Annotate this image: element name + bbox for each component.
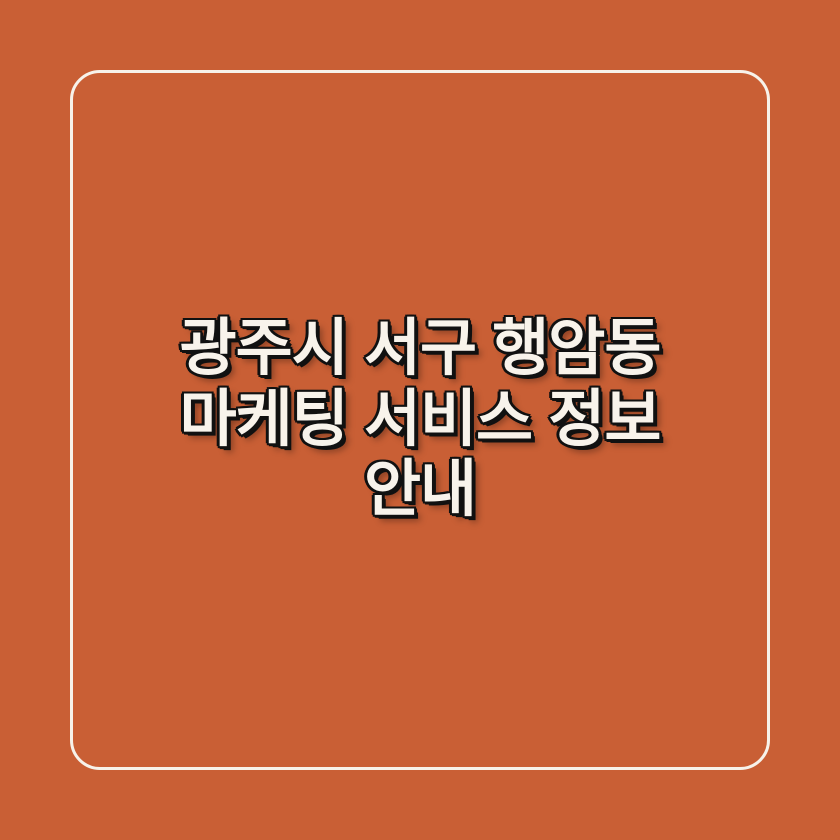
headline-line-3: 안내 — [180, 455, 661, 526]
page-title: 광주시 서구 행암동 마케팅 서비스 정보 안내 — [180, 314, 661, 526]
headline-line-1: 광주시 서구 행암동 — [180, 314, 661, 385]
headline-line-2: 마케팅 서비스 정보 — [180, 385, 661, 456]
promo-card: 광주시 서구 행암동 마케팅 서비스 정보 안내 — [0, 0, 840, 840]
headline-block: 광주시 서구 행암동 마케팅 서비스 정보 안내 — [0, 0, 840, 840]
